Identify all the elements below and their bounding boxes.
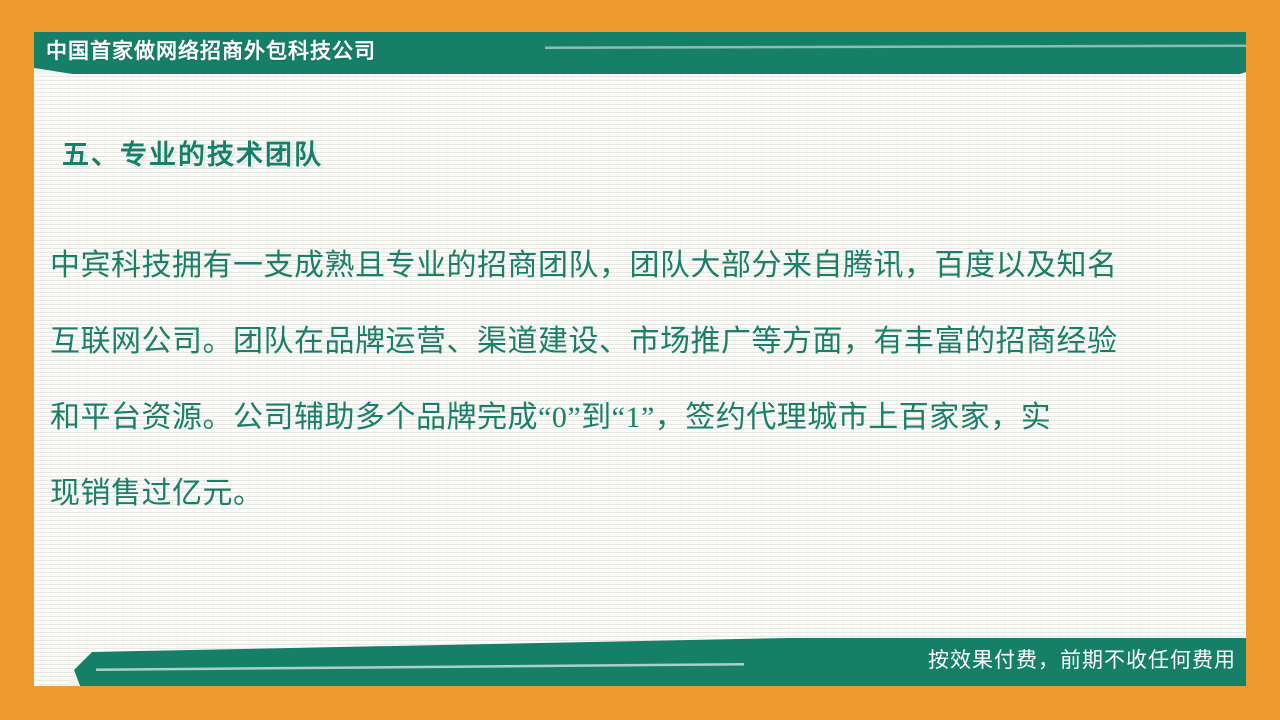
body-line: 现销售过亿元。 bbox=[50, 456, 1184, 532]
body-paragraph: 中宾科技拥有一支成熟且专业的招商团队，团队大部分来自腾讯，百度以及知名 互联网公… bbox=[50, 228, 1184, 532]
section-heading: 五、专业的技术团队 bbox=[62, 133, 323, 172]
footer-tagline: 按效果付费，前期不收任何费用 bbox=[928, 643, 1236, 679]
header-title: 中国首家做网络招商外包科技公司 bbox=[46, 34, 376, 70]
slide-root: 中国首家做网络招商外包科技公司 五、专业的技术团队 中宾科技拥有一支成熟且专业的… bbox=[0, 0, 1280, 720]
body-line: 中宾科技拥有一支成熟且专业的招商团队，团队大部分来自腾讯，百度以及知名 bbox=[50, 228, 1184, 304]
body-line: 和平台资源。公司辅助多个品牌完成“0”到“1”，签约代理城市上百家家，实 bbox=[50, 380, 1184, 456]
body-line: 互联网公司。团队在品牌运营、渠道建设、市场推广等方面，有丰富的招商经验 bbox=[50, 304, 1184, 380]
